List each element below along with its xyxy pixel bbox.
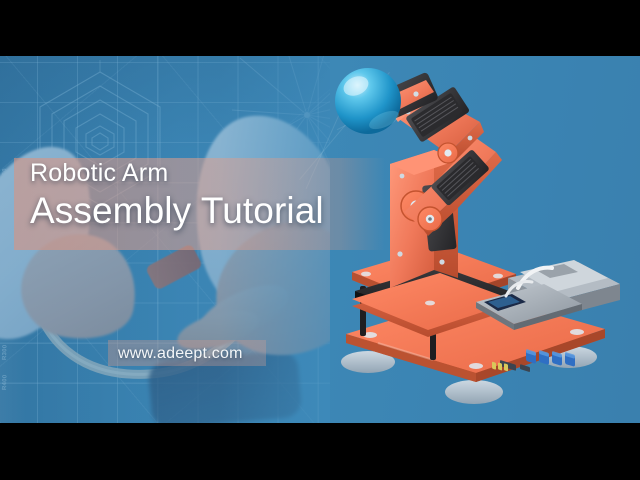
blue-sphere — [335, 68, 401, 134]
letterbox-top — [0, 0, 640, 56]
title-eyebrow: Robotic Arm — [30, 156, 324, 190]
watermark-url: www.adeept.com — [118, 341, 243, 366]
video-picture: R80 R100 R130 R150 R200 R250 R300 R400 — [0, 56, 640, 423]
title-block: Robotic Arm Assembly Tutorial — [30, 156, 324, 234]
letterbox-bottom — [0, 423, 640, 480]
video-frame: R80 R100 R130 R150 R200 R250 R300 R400 — [0, 0, 640, 480]
page-title: Assembly Tutorial — [30, 188, 324, 234]
